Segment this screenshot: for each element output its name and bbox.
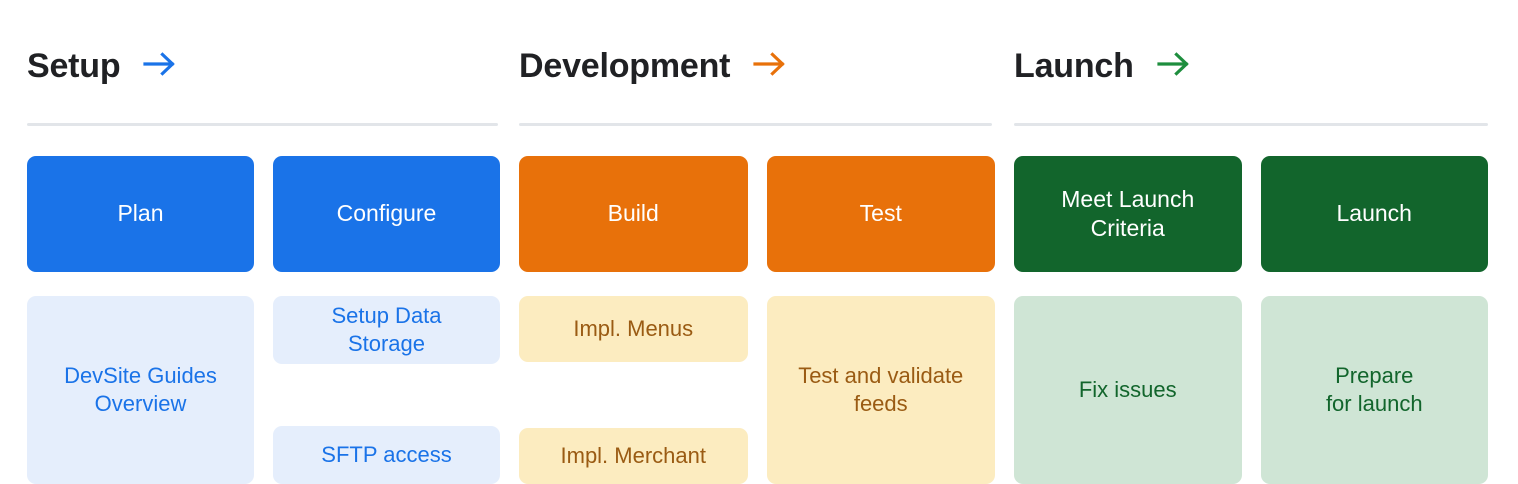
card-impl-merchant[interactable]: Impl. Merchant <box>519 428 748 484</box>
card-sftp-access[interactable]: SFTP access <box>273 426 500 484</box>
track-spacer <box>519 362 748 428</box>
card-test[interactable]: Test <box>767 156 996 272</box>
phase-board: Setup Plan DevSite Guides Overview Confi… <box>0 0 1518 484</box>
card-setup-data-storage[interactable]: Setup Data Storage <box>273 296 500 364</box>
phase-title-launch: Launch <box>1014 49 1134 83</box>
card-devsite-guides-overview[interactable]: DevSite Guides Overview <box>27 296 254 484</box>
phase-column-setup: Setup Plan DevSite Guides Overview Confi… <box>0 0 500 484</box>
card-fix-issues[interactable]: Fix issues <box>1014 296 1242 484</box>
card-prepare-for-launch[interactable]: Prepare for launch <box>1261 296 1489 484</box>
track-launch: Launch Prepare for launch <box>1261 156 1489 484</box>
arrow-right-icon <box>752 49 788 84</box>
track-configure: Configure Setup Data Storage SFTP access <box>273 156 500 484</box>
card-build[interactable]: Build <box>519 156 748 272</box>
phase-column-launch: Launch Meet Launch Criteria Fix issues L… <box>995 0 1518 484</box>
phase-header-setup: Setup <box>27 0 500 123</box>
card-plan[interactable]: Plan <box>27 156 254 272</box>
phase-header-launch: Launch <box>1014 0 1488 123</box>
phase-body-launch: Meet Launch Criteria Fix issues Launch P… <box>1014 156 1488 484</box>
card-test-and-validate-feeds[interactable]: Test and validate feeds <box>767 296 996 484</box>
phase-body-development: Build Impl. Menus Impl. Merchant Test Te… <box>519 156 995 484</box>
card-launch[interactable]: Launch <box>1261 156 1489 272</box>
phase-divider-setup <box>27 123 498 126</box>
card-configure[interactable]: Configure <box>273 156 500 272</box>
track-meet-launch-criteria: Meet Launch Criteria Fix issues <box>1014 156 1242 484</box>
phase-title-setup: Setup <box>27 49 120 83</box>
card-meet-launch-criteria[interactable]: Meet Launch Criteria <box>1014 156 1242 272</box>
track-spacer <box>273 364 500 426</box>
track-build: Build Impl. Menus Impl. Merchant <box>519 156 748 484</box>
phase-body-setup: Plan DevSite Guides Overview Configure S… <box>27 156 500 484</box>
arrow-right-icon <box>142 49 178 84</box>
track-plan: Plan DevSite Guides Overview <box>27 156 254 484</box>
phase-header-development: Development <box>519 0 995 123</box>
card-impl-menus[interactable]: Impl. Menus <box>519 296 748 362</box>
track-test: Test Test and validate feeds <box>767 156 996 484</box>
phase-title-development: Development <box>519 49 730 83</box>
phase-column-development: Development Build Impl. Menus Impl. Merc… <box>500 0 995 484</box>
arrow-right-icon <box>1156 49 1192 84</box>
phase-divider-launch <box>1014 123 1488 126</box>
phase-divider-development <box>519 123 992 126</box>
